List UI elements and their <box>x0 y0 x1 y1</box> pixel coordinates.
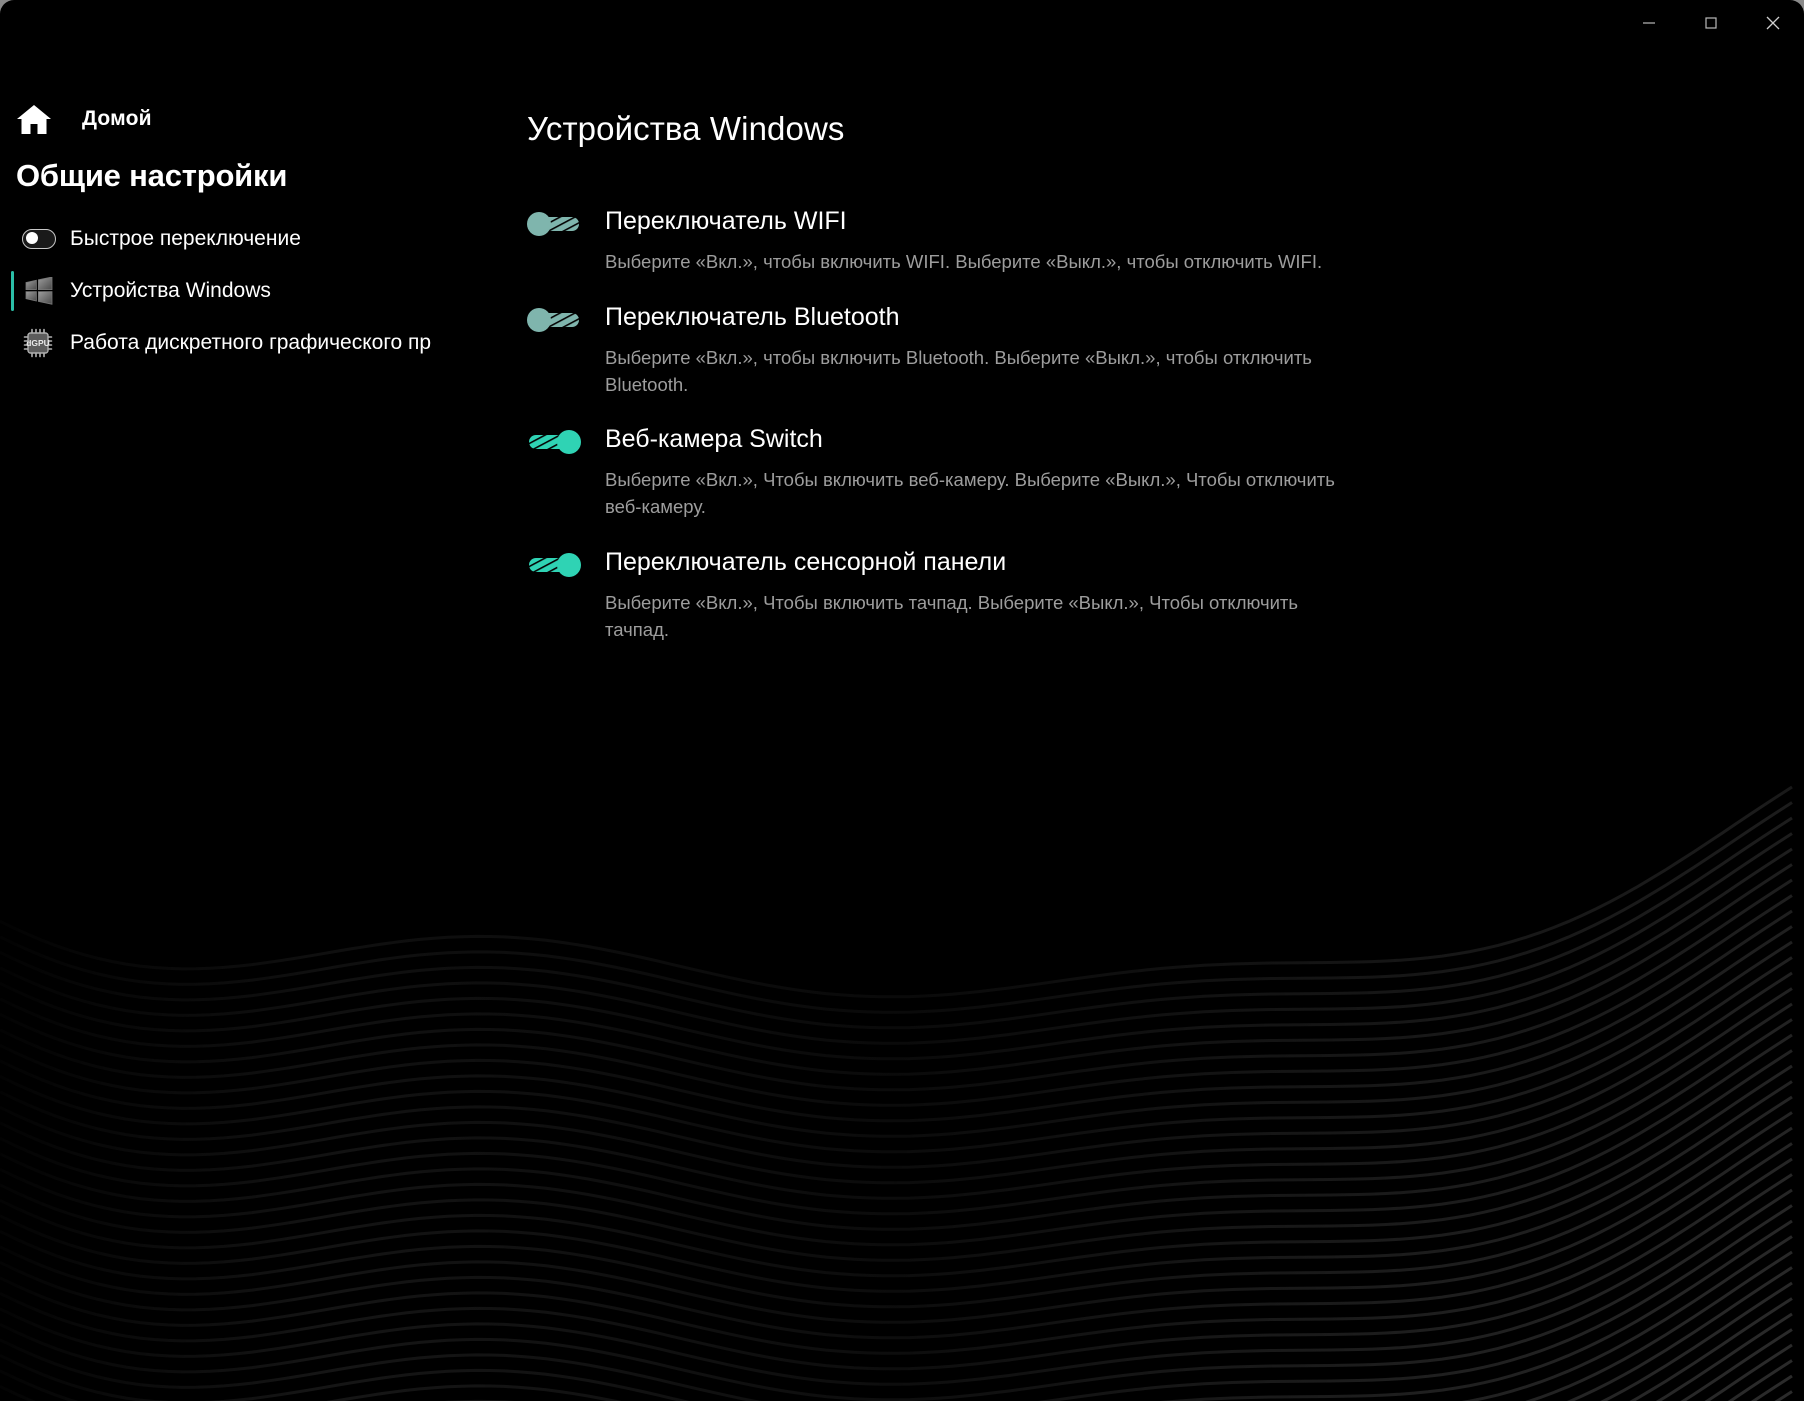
sidebar-home-button[interactable]: Домой <box>10 98 152 140</box>
setting-row-wifi: Переключатель WIFI <box>525 206 1735 237</box>
setting-row-webcam: Веб-камера Switch <box>525 424 1735 455</box>
sidebar-item-discrete-gpu[interactable]: dGPU Работа дискретного графического пр <box>0 317 485 369</box>
page-title: Устройства Windows <box>527 110 1735 148</box>
sidebar-active-indicator <box>11 219 14 259</box>
sidebar-title: Общие настройки <box>16 158 287 194</box>
sidebar-item-label: Быстрое переключение <box>70 227 301 251</box>
setting-description: Выберите «Вкл.», чтобы включить WIFI. Вы… <box>605 249 1425 276</box>
sidebar-item-windows-devices[interactable]: Устройства Windows <box>0 265 485 317</box>
setting-row-bluetooth: Переключатель Bluetooth <box>525 302 1735 333</box>
sidebar-active-indicator <box>11 323 14 363</box>
sidebar-item-label: Работа дискретного графического пр <box>70 331 431 355</box>
minimize-button[interactable] <box>1618 0 1680 46</box>
svg-text:dGPU: dGPU <box>26 338 50 348</box>
setting-label: Переключатель WIFI <box>605 206 1735 236</box>
pill-toggle-icon[interactable] <box>22 222 56 256</box>
minimize-icon <box>1640 14 1658 32</box>
maximize-icon <box>1702 14 1720 32</box>
setting-label: Переключатель сенсорной панели <box>605 547 1735 577</box>
close-button[interactable] <box>1742 0 1804 46</box>
windows-logo-icon <box>22 274 56 308</box>
app-window: Домой Общие настройки Быстрое переключен… <box>0 0 1804 1401</box>
sidebar-home-label: Домой <box>82 107 152 131</box>
wave-background-decoration <box>0 641 1804 1401</box>
setting-label: Переключатель Bluetooth <box>605 302 1735 332</box>
sidebar: Домой Общие настройки Быстрое переключен… <box>0 78 485 408</box>
sidebar-active-indicator <box>11 271 14 311</box>
home-icon <box>14 99 54 139</box>
webcam-toggle[interactable] <box>525 429 583 455</box>
bluetooth-toggle[interactable] <box>525 307 583 333</box>
setting-label: Веб-камера Switch <box>605 424 1735 454</box>
touchpad-toggle[interactable] <box>525 552 583 578</box>
setting-description: Выберите «Вкл.», Чтобы включить тачпад. … <box>605 590 1325 644</box>
setting-description: Выберите «Вкл.», Чтобы включить веб-каме… <box>605 467 1365 521</box>
setting-row-touchpad: Переключатель сенсорной панели <box>525 547 1735 578</box>
close-icon <box>1763 13 1783 33</box>
title-bar <box>0 0 1804 52</box>
setting-description: Выберите «Вкл.», чтобы включить Bluetoot… <box>605 345 1345 399</box>
main-content: Устройства Windows Переключатель WIFI Вы… <box>525 110 1735 670</box>
maximize-button[interactable] <box>1680 0 1742 46</box>
sidebar-item-label: Устройства Windows <box>70 279 271 303</box>
wifi-toggle[interactable] <box>525 211 583 237</box>
sidebar-item-quick-switch[interactable]: Быстрое переключение <box>0 213 485 265</box>
gpu-chip-icon: dGPU <box>22 326 56 360</box>
